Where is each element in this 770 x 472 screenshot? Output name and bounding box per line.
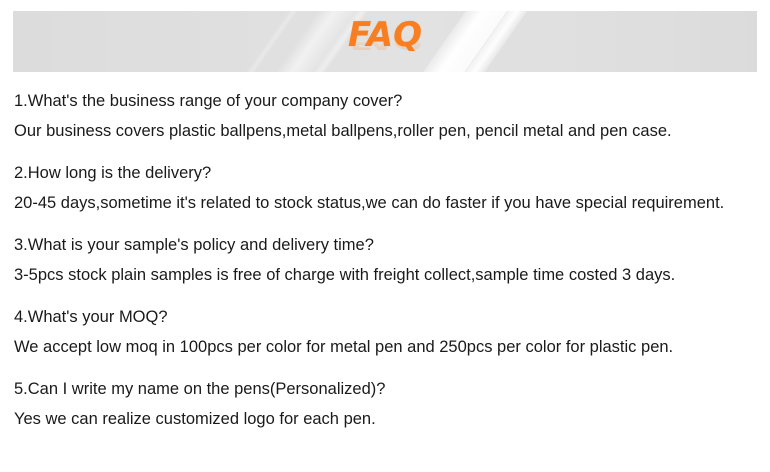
faq-answer: 3-5pcs stock plain samples is free of ch… [14,260,759,290]
faq-item: 3.What is your sample's policy and deliv… [14,230,759,290]
banner-title-wrap: FAQ FAQ [13,11,757,72]
faq-answer: We accept low moq in 100pcs per color fo… [14,332,759,362]
faq-question: 2.How long is the delivery? [14,158,759,188]
faq-question: 5.Can I write my name on the pens(Person… [14,374,759,404]
faq-answer: Yes we can realize customized logo for e… [14,404,759,434]
faq-question: 3.What is your sample's policy and deliv… [14,230,759,260]
faq-answer: 20-45 days,sometime it's related to stoc… [14,188,759,218]
faq-question: 4.What's your MOQ? [14,302,759,332]
faq-item: 4.What's your MOQ? We accept low moq in … [14,302,759,362]
faq-list: 1.What's the business range of your comp… [14,86,759,434]
faq-item: 1.What's the business range of your comp… [14,86,759,146]
faq-question: 1.What's the business range of your comp… [14,86,759,116]
faq-answer: Our business covers plastic ballpens,met… [14,116,759,146]
page-title-reflection: FAQ [348,33,422,52]
faq-page: FAQ FAQ 1.What's the business range of y… [0,0,770,472]
faq-header-banner: FAQ FAQ [13,11,757,72]
faq-item: 2.How long is the delivery? 20-45 days,s… [14,158,759,218]
faq-item: 5.Can I write my name on the pens(Person… [14,374,759,434]
